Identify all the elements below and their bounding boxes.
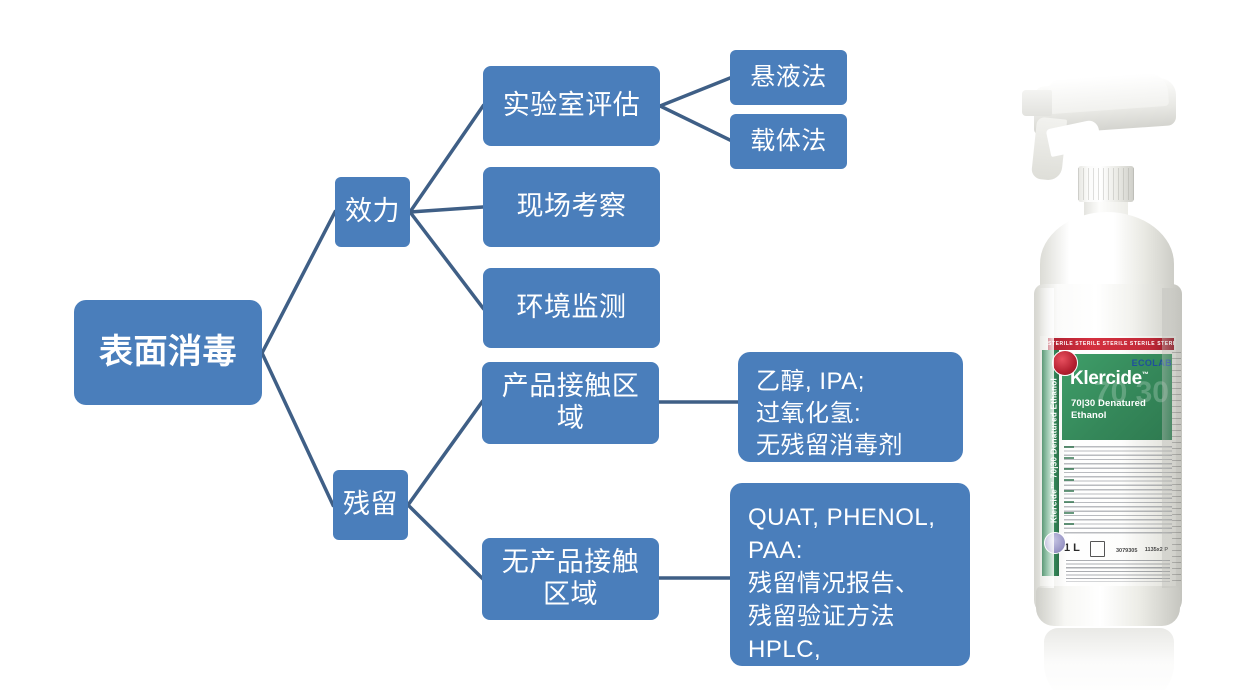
node-product-contact-area-label: 产品接触区域 [500,371,641,435]
bottle-reflection [1044,628,1174,690]
bottle-highlight-left [1038,288,1054,588]
bottle-base [1036,586,1180,626]
textblock-non-product-contact-detail-text: QUAT, PHENOL, PAA: 残留情况报告、 残留验证方法 HPLC, … [748,501,954,690]
textblock-non-product-contact-detail[interactable]: QUAT, PHENOL, PAA: 残留情况报告、 残留验证方法 HPLC, … [730,483,970,666]
label-volume: 1 L 3079305 1135x2 P [1064,540,1170,556]
label-fineprint-bullets [1064,446,1074,534]
node-residue-label: 残留 [343,489,398,521]
diagram-canvas: 表面消毒 效力 残留 实验室评估 现场考察 环境监测 产品接触区域 无产品接触区… [0,0,1255,690]
node-non-product-contact-area[interactable]: 无产品接触区域 [482,538,659,620]
edge-root-to-residue [262,353,333,505]
node-product-contact-area[interactable]: 产品接触区域 [482,362,659,444]
edge-lab-to-suspension [660,78,730,106]
node-residue[interactable]: 残留 [333,470,408,540]
bottle-collar-ribs [1078,168,1134,200]
node-efficacy-label: 效力 [345,196,400,228]
product-variant: 70|30 Denatured Ethanol [1071,398,1172,422]
label-address-print [1066,560,1170,582]
node-root-surface-disinfection[interactable]: 表面消毒 [74,300,262,405]
textblock-product-contact-detail[interactable]: 乙醇, IPA; 过氧化氢: 无残留消毒剂 [738,352,963,462]
node-carrier-method-label: 载体法 [750,127,827,157]
brand-name: Klercide™ [1070,368,1148,390]
textblock-product-contact-detail-text: 乙醇, IPA; 过氧化氢: 无残留消毒剂 [756,366,903,462]
edge-efficacy-to-lab [410,106,483,212]
node-site-inspection-label: 现场考察 [517,191,627,223]
edge-residue-to-product-contact [408,402,482,505]
edge-lab-to-carrier [660,106,730,140]
red-seal-icon [1052,350,1078,376]
node-site-inspection[interactable]: 现场考察 [483,167,660,247]
edge-residue-to-non-product-contact [408,505,482,578]
node-suspension-method[interactable]: 悬液法 [730,50,847,105]
product-bottle-photo: STERILE STERILE STERILE STERILE STERILE … [1004,62,1219,662]
trademark-symbol: ™ [1142,372,1149,379]
sprayer-nozzle-icon [1022,90,1052,116]
node-lab-evaluation-label: 实验室评估 [503,90,641,122]
label-volume-value: 1 L [1064,542,1080,554]
container-icon [1090,541,1105,557]
edge-root-to-efficacy [262,212,335,353]
node-efficacy[interactable]: 效力 [335,177,410,247]
node-environment-monitoring[interactable]: 环境监测 [483,268,660,348]
edge-efficacy-to-site [410,207,483,212]
label-fineprint [1064,446,1172,534]
batch-code: 3079305 [1116,543,1137,559]
node-root-label: 表面消毒 [99,332,237,372]
node-lab-evaluation[interactable]: 实验室评估 [483,66,660,146]
sterile-strip: STERILE STERILE STERILE STERILE STERILE … [1048,338,1174,350]
brand-name-text: Klercide [1070,368,1142,389]
node-non-product-contact-area-label: 无产品接触区域 [496,547,645,611]
edge-efficacy-to-env [410,212,483,308]
node-environment-monitoring-label: 环境监测 [517,292,627,324]
bottle-shadow-right [1162,288,1180,588]
node-carrier-method[interactable]: 载体法 [730,114,847,169]
node-suspension-method-label: 悬液法 [750,63,827,93]
